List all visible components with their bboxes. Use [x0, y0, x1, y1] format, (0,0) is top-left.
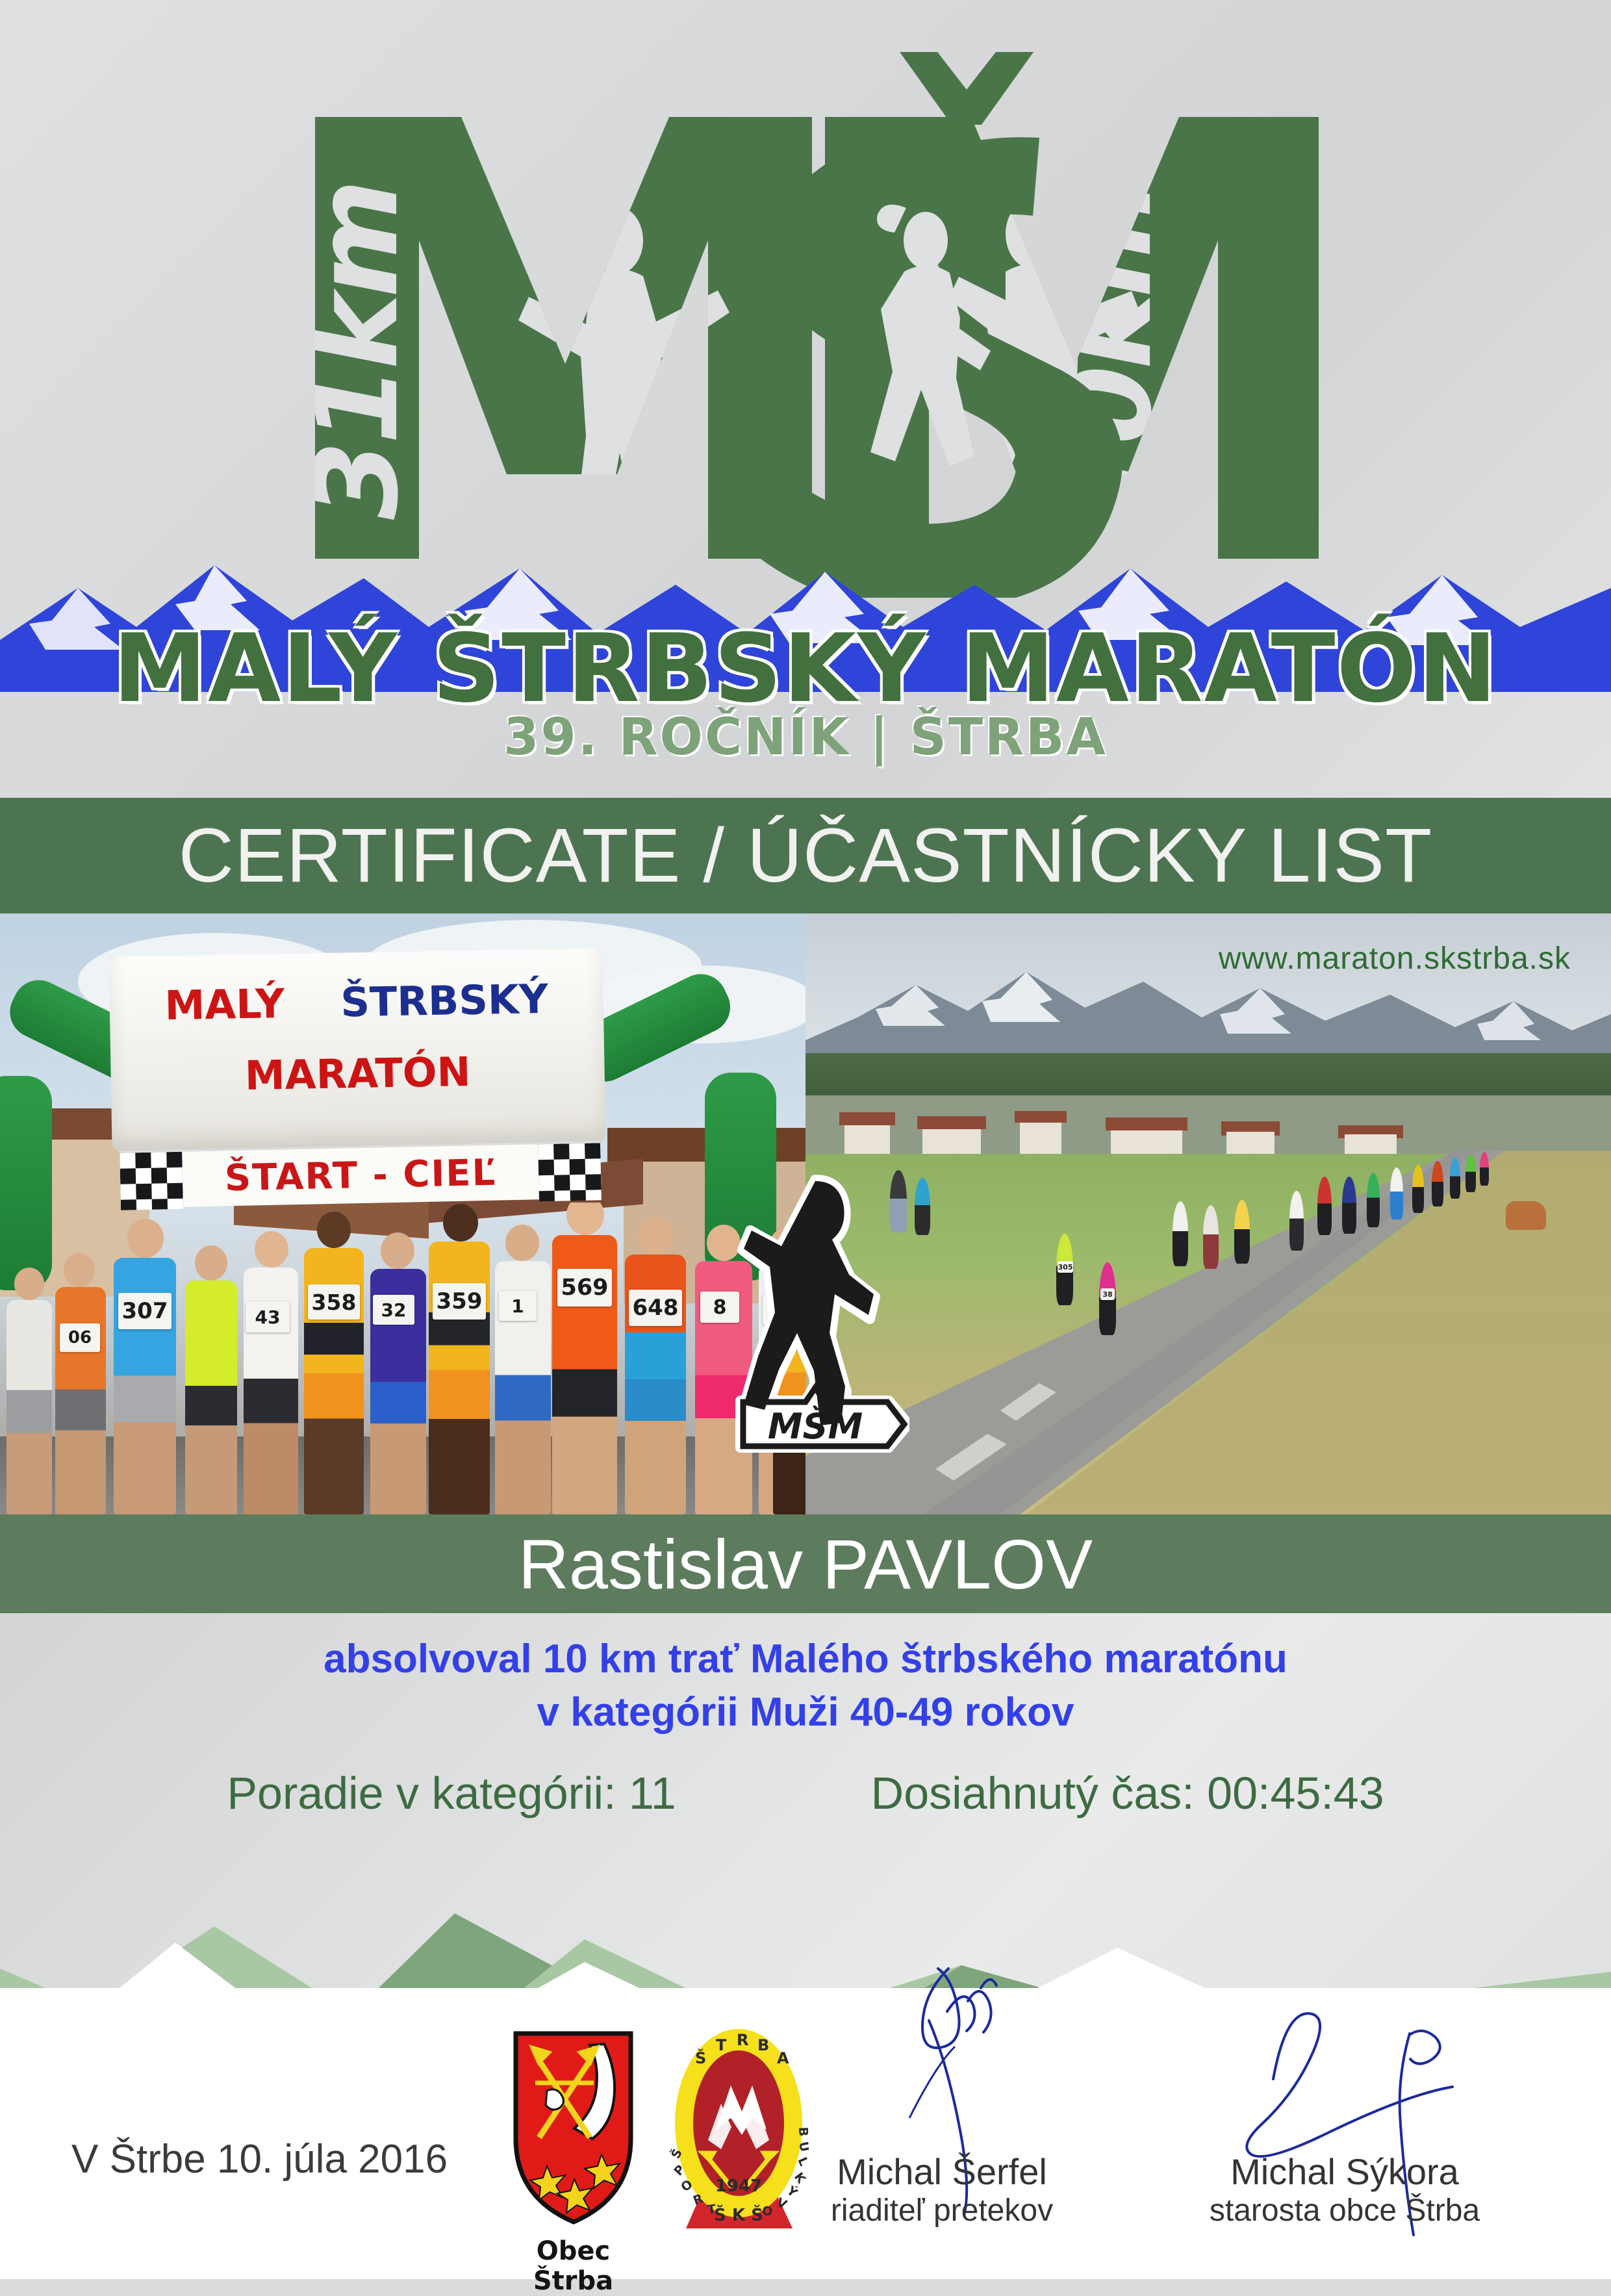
roof [839, 1112, 895, 1125]
director-name: Michal Šerfel [760, 2150, 1124, 2193]
checker-flag-right [538, 1143, 602, 1201]
arch-banner-maly: MALÝ [164, 980, 285, 1029]
runner [1465, 1154, 1476, 1192]
arch-banner-strbsky: ŠTRBSKÝ [340, 975, 549, 1027]
runner [1412, 1165, 1424, 1213]
club-top-letter: B [757, 2036, 769, 2054]
msm-overlay-text: MŠM [768, 1406, 863, 1447]
finish-time: Dosiahnutý čas: 00:45:43 [871, 1767, 1384, 1819]
runner [1450, 1157, 1460, 1199]
club-top-letter: A [777, 2049, 789, 2067]
club-top-letter: R [737, 2031, 748, 2049]
runner-head [64, 1253, 95, 1287]
roof [1106, 1117, 1187, 1130]
achievement-description: absolvoval 10 km trať Malého štrbského m… [0, 1633, 1611, 1739]
runner-bib: 307 [118, 1293, 171, 1329]
description-line-1: absolvoval 10 km trať Malého štrbského m… [0, 1633, 1611, 1686]
runner-bib: 569 [557, 1269, 612, 1307]
issue-date: V Štrbe 10. júla 2016 [71, 2136, 448, 2182]
runner-bib: 359 [433, 1283, 486, 1320]
photo-road-race: 305 38 www.maraton.skstrba.sk [805, 913, 1611, 1514]
runner-bib: 06 [60, 1323, 100, 1352]
msm-runner-overlay-icon: MŠM [721, 1167, 909, 1472]
start-finish-banner: ŠTART - CIEĽ [120, 1141, 602, 1208]
signature-block-director: Michal Šerfel riaditeľ pretekov [760, 2150, 1124, 2228]
arch-banner: MALÝ ŠTRBSKÝ MARATÓN [108, 948, 605, 1151]
svg-text:31km: 31km [292, 183, 424, 520]
event-title: MALÝ ŠTRBSKÝ MARATÓN [0, 614, 1611, 724]
runner [1390, 1167, 1403, 1219]
signature-block-mayor: Michal Sýkora starosta obce Štrba [1143, 2150, 1546, 2228]
runner-head [317, 1212, 351, 1248]
header-logo-area: 31km 10km [0, 0, 1611, 796]
runner [1342, 1177, 1356, 1234]
category-rank: Poradie v kategórii: 11 [227, 1767, 676, 1819]
runner [1203, 1205, 1219, 1269]
club-top-letter: Š [695, 2048, 706, 2067]
category-rank-value: 11 [629, 1768, 676, 1818]
runner-bib: 305 [1058, 1261, 1073, 1273]
checker-flag-left [120, 1152, 183, 1210]
spectator [915, 1178, 930, 1235]
runner-head [255, 1231, 288, 1268]
certificate-page: 31km 10km [0, 0, 1611, 2279]
runner [6, 1300, 52, 1514]
runner-head [638, 1217, 673, 1255]
mayor-role: starosta obce Štrba [1143, 2193, 1546, 2228]
arch-banner-line2: MARATÓN [110, 1045, 605, 1101]
cow [1506, 1201, 1546, 1230]
start-finish-text: ŠTART - CIEĽ [224, 1152, 497, 1200]
runner [185, 1281, 237, 1514]
runner [429, 1242, 490, 1514]
runner [1289, 1191, 1304, 1251]
runner-head [443, 1204, 478, 1242]
footer: V Štrbe 10. júla 2016 [0, 1988, 1611, 2279]
runner [1432, 1161, 1443, 1206]
runner [1234, 1200, 1250, 1264]
runner [1173, 1201, 1188, 1266]
msm-wordmark-svg: 31km 10km [201, 26, 1410, 598]
runner-bib: 358 [308, 1284, 360, 1320]
svg-text:B: B [796, 2126, 809, 2136]
runner [1480, 1152, 1489, 1186]
runner-head [381, 1232, 414, 1269]
runner-bib: 38 [1100, 1288, 1115, 1300]
obec-strba-caption: Obec Štrba [507, 2236, 640, 2296]
photo-start-arch: MALÝ ŠTRBSKÝ MARATÓN ŠTART - CIEĽ 06 [0, 913, 805, 1514]
photo-strip: MALÝ ŠTRBSKÝ MARATÓN ŠTART - CIEĽ 06 [0, 913, 1611, 1514]
club-bottom-text: Š K Š [714, 2204, 763, 2225]
finish-time-label: Dosiahnutý čas: [871, 1768, 1195, 1818]
event-subtitle: 39. ROČNÍK | ŠTRBA [0, 708, 1611, 767]
certificate-heading-band: CERTIFICATE / ÚČASTNÍCKY LIST [0, 798, 1611, 913]
msm-logo: 31km 10km [0, 26, 1611, 611]
description-line-2: v kategórii Muži 40-49 rokov [0, 1686, 1611, 1739]
category-rank-label: Poradie v kategórii: [227, 1768, 616, 1818]
finish-time-value: 00:45:43 [1207, 1768, 1384, 1818]
club-top-letter: T [716, 2036, 727, 2054]
runner-crowd: 06 307 43 358 32 359 [0, 1203, 805, 1514]
road-with-runners: 305 38 [805, 1151, 1611, 1514]
certificate-heading-text: CERTIFICATE / ÚČASTNÍCKY LIST [179, 811, 1432, 900]
participant-name-band: Rastislav PAVLOV [0, 1514, 1611, 1613]
obec-strba-coat-of-arms-icon [507, 2028, 640, 2230]
mayor-name: Michal Sýkora [1143, 2150, 1546, 2193]
runner-head [566, 1203, 604, 1235]
roof [917, 1116, 986, 1129]
director-role: riaditeľ pretekov [760, 2193, 1124, 2228]
runner-bib: 43 [246, 1301, 290, 1333]
runner-bib: 1 [499, 1291, 537, 1321]
results-row: Poradie v kategórii: 11 Dosiahnutý čas: … [0, 1767, 1611, 1819]
arch-banner-line1: MALÝ ŠTRBSKÝ [109, 974, 603, 1030]
runner [1367, 1173, 1380, 1227]
club-year: 1947 [715, 2176, 762, 2196]
runner-bib: 32 [373, 1295, 414, 1325]
runner [1317, 1177, 1332, 1235]
runner-head [14, 1268, 44, 1300]
roof [1015, 1111, 1067, 1123]
runner-head [505, 1225, 539, 1261]
participant-name: Rastislav PAVLOV [518, 1524, 1093, 1605]
website-url: www.maraton.skstrba.sk [1219, 941, 1571, 976]
runner-bib: 648 [629, 1290, 682, 1326]
runner [55, 1287, 106, 1514]
runner-head [127, 1219, 164, 1258]
runner-head [195, 1245, 227, 1281]
